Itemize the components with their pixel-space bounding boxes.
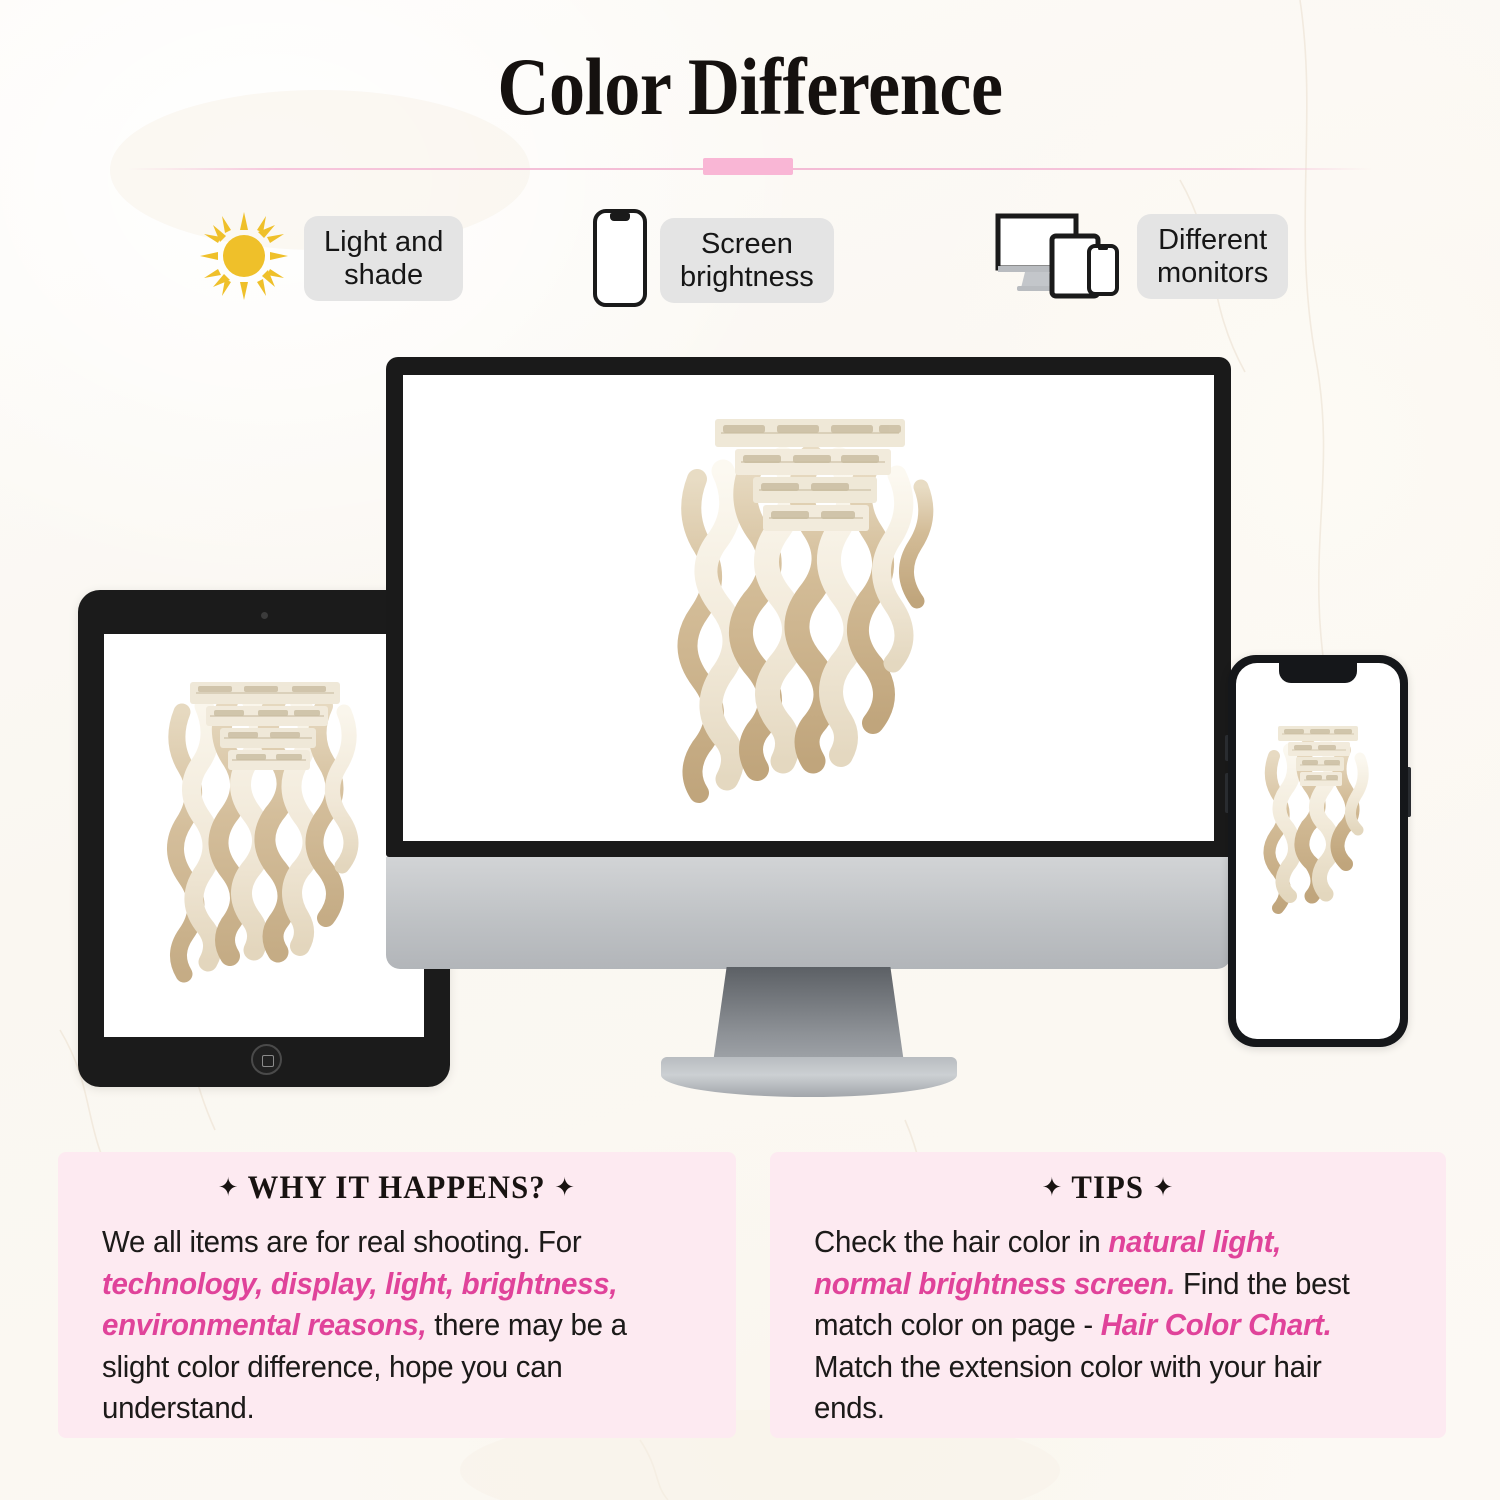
title-divider-accent: [703, 158, 793, 175]
panel-tips-heading-text: TIPS: [1071, 1170, 1144, 1206]
panel-tips-heading: ✦ TIPS ✦: [835, 1170, 1382, 1207]
smartphone-icon: [592, 208, 648, 313]
page-title: Color Difference: [90, 44, 1410, 130]
feature-light-and-shade: Light and shade: [196, 208, 463, 309]
hair-product-image-monitor: [659, 375, 959, 841]
monitor-stand-foot: [661, 1057, 957, 1097]
phone-power-button[interactable]: [1408, 767, 1411, 817]
feature-label-screen-brightness: Screen brightness: [660, 218, 834, 303]
tablet-camera-icon: [261, 612, 268, 619]
monitor-bezel: [386, 357, 1231, 857]
phone-screen: [1236, 663, 1400, 1039]
why-text-1: We all items are for real shooting. For: [102, 1224, 581, 1259]
tips-text-1: Check the hair color in: [814, 1224, 1108, 1259]
hair-product-image-phone: [1256, 708, 1380, 958]
phone-notch: [1279, 663, 1357, 683]
feature-different-monitors: Different monitors: [995, 208, 1288, 305]
feature-screen-brightness: Screen brightness: [592, 208, 834, 313]
header: Color Difference: [0, 44, 1500, 130]
multi-device-icon: [995, 208, 1125, 305]
panel-tips-body: Check the hair color in natural light, n…: [814, 1221, 1373, 1429]
monitor-screen: [403, 375, 1214, 841]
panel-tips: ✦ TIPS ✦ Check the hair color in natural…: [770, 1152, 1446, 1438]
sparkle-icon: ✦: [555, 1173, 576, 1203]
tips-text-3: Match the extension color with your hair…: [814, 1349, 1322, 1426]
panel-why-body: We all items are for real shooting. For …: [102, 1221, 663, 1429]
tips-text-highlight-2: Hair Color Chart.: [1101, 1307, 1332, 1342]
tablet-screen: [104, 634, 424, 1037]
panel-why-heading: ✦ WHY IT HAPPENS? ✦: [123, 1170, 672, 1207]
feature-label-light-and-shade: Light and shade: [304, 216, 463, 301]
panel-why-it-happens: ✦ WHY IT HAPPENS? ✦ We all items are for…: [58, 1152, 736, 1438]
hair-product-image-tablet: [148, 658, 380, 1028]
phone-body: [1228, 655, 1408, 1047]
sparkle-icon: ✦: [1042, 1173, 1063, 1203]
monitor-chin: [386, 857, 1231, 969]
smartphone-device: [1228, 655, 1408, 1047]
feature-badges-row: Light and shade Screen brightness: [0, 200, 1500, 315]
feature-label-different-monitors: Different monitors: [1137, 214, 1288, 299]
panel-why-heading-text: WHY IT HAPPENS?: [248, 1170, 546, 1206]
device-mockups: [0, 340, 1500, 1130]
tablet-home-button[interactable]: [251, 1044, 282, 1075]
sun-icon: [196, 208, 292, 309]
desktop-monitor-device: [386, 357, 1231, 1070]
sparkle-icon: ✦: [218, 1173, 239, 1203]
sparkle-icon: ✦: [1153, 1173, 1174, 1203]
